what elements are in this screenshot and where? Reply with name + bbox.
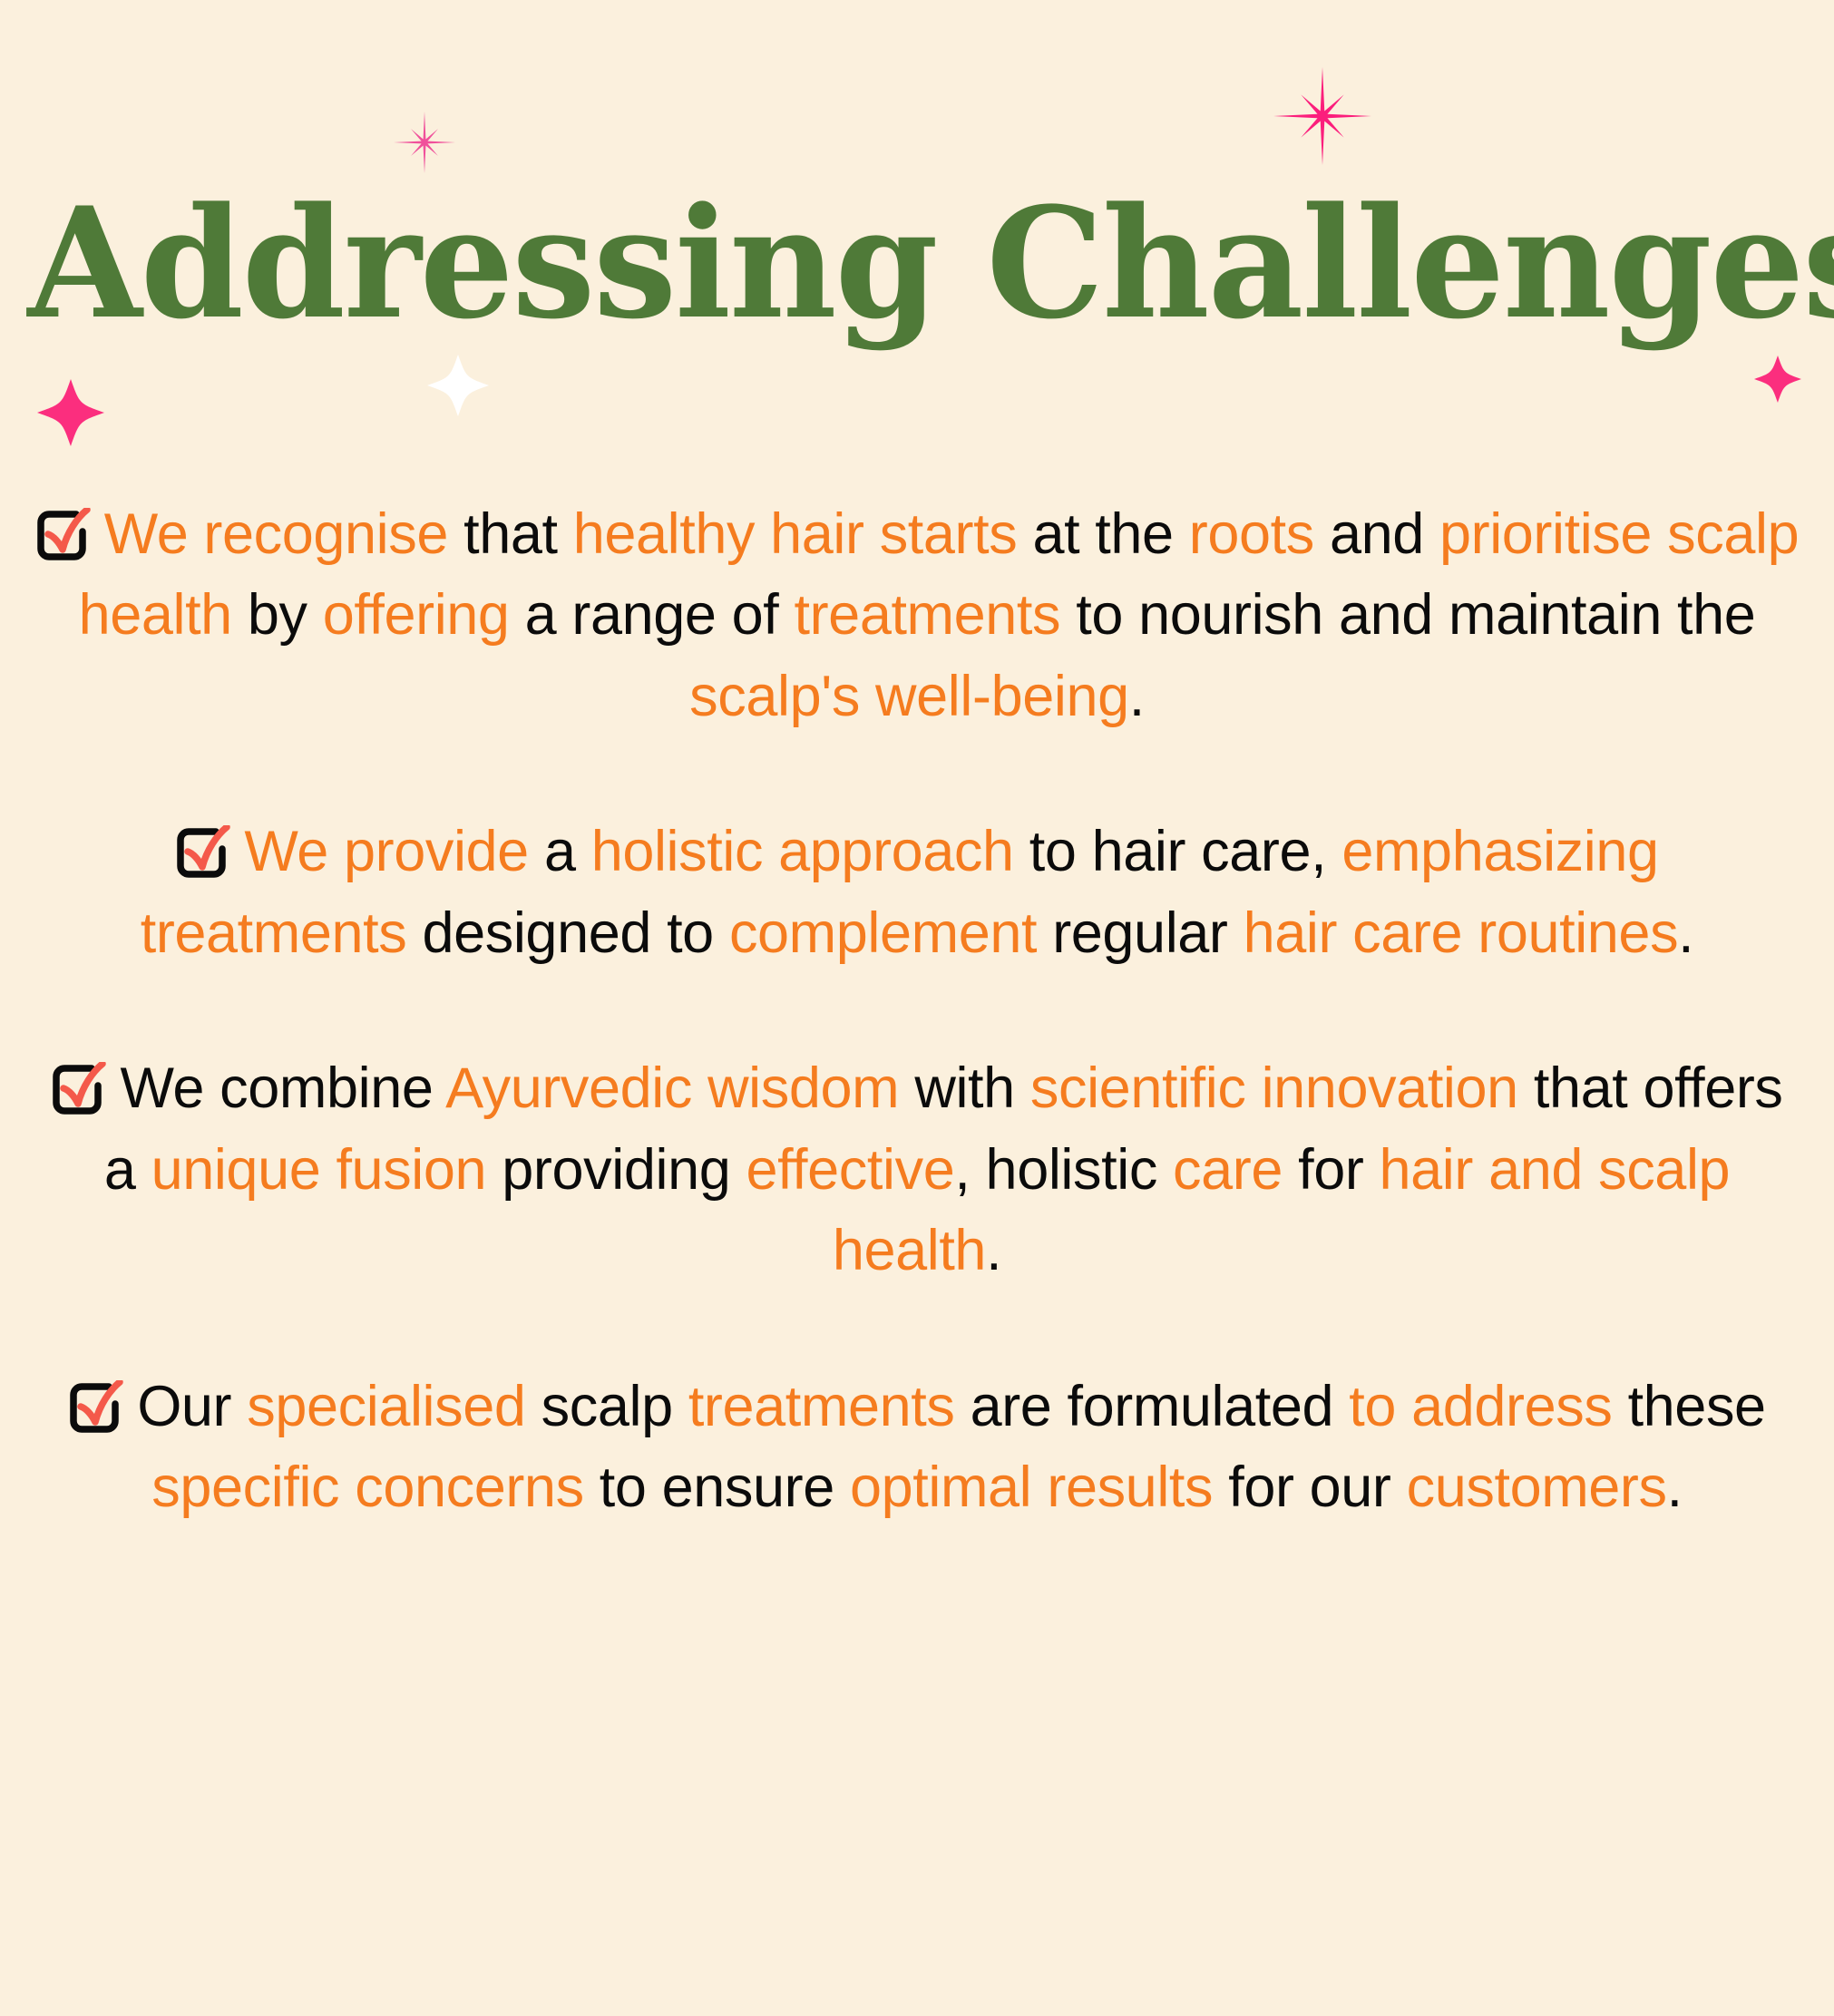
- bullet-text-plain: Our: [137, 1375, 247, 1438]
- bullet-text-plain: designed to: [422, 901, 728, 965]
- bullet-text-highlight: Ayurvedic wisdom: [445, 1057, 914, 1120]
- bullet-text-plain: to nourish and maintain the: [1076, 583, 1755, 647]
- bullet-text-highlight: effective: [746, 1138, 954, 1202]
- bullet-text-highlight: specialised: [247, 1375, 541, 1438]
- bullet-list: We recognise that healthy hair starts at…: [0, 494, 1834, 1529]
- page-title-container: Addressing Challenges: [0, 187, 1834, 339]
- bullet-item: Our specialised scalp treatments are for…: [34, 1367, 1800, 1529]
- bullet-text-plain: a: [544, 820, 591, 883]
- bullet-text-plain: a range of: [525, 583, 795, 647]
- checkbox-checked-icon: [51, 1062, 107, 1116]
- bullet-text-highlight: care: [1173, 1138, 1298, 1202]
- bullet-text-plain: .: [1667, 1456, 1683, 1519]
- bullet-item: We provide a holistic approach to hair c…: [34, 812, 1800, 974]
- checkbox-checked-icon: [68, 1380, 124, 1435]
- bullet-text-plain: and: [1330, 502, 1439, 566]
- bullet-text-plain: for: [1298, 1138, 1379, 1202]
- bullet-text-plain: .: [986, 1219, 1001, 1282]
- bullet-text-plain: by: [248, 583, 323, 647]
- sparkle-diamond-pink-left: [37, 379, 104, 446]
- bullet-text-plain: .: [1678, 901, 1693, 965]
- bullet-text-highlight: offering: [323, 583, 525, 647]
- sparkle-diamond-white-center: [427, 355, 489, 416]
- bullet-text-plain: We combine: [120, 1057, 445, 1120]
- bullet-text-plain: scalp: [541, 1375, 688, 1438]
- bullet-text-highlight: complement: [729, 901, 1052, 965]
- bullet-text-highlight: treatments: [688, 1375, 971, 1438]
- bullet-text-plain: for our: [1228, 1456, 1406, 1519]
- bullet-text-highlight: optimal results: [850, 1456, 1228, 1519]
- bullet-text-plain: regular: [1052, 901, 1243, 965]
- bullet-text-plain: these: [1628, 1375, 1766, 1438]
- bullet-text-highlight: scientific innovation: [1030, 1057, 1534, 1120]
- bullet-text-highlight: healthy hair starts: [573, 502, 1033, 566]
- bullet-text-plain: with: [914, 1057, 1030, 1120]
- bullet-item: We recognise that healthy hair starts at…: [34, 494, 1800, 737]
- checkbox-checked-icon: [175, 825, 231, 880]
- bullet-text-highlight: unique fusion: [151, 1138, 502, 1202]
- bullet-item: We combine Ayurvedic wisdom with scienti…: [34, 1048, 1800, 1291]
- sparkle-star-pink-small: [394, 112, 455, 173]
- bullet-text-highlight: scalp's well-being: [689, 665, 1129, 728]
- bullet-text-highlight: specific concerns: [151, 1456, 600, 1519]
- bullet-text-plain: are formulated: [971, 1375, 1350, 1438]
- page-title: Addressing Challenges: [27, 187, 1806, 339]
- bullet-text-plain: .: [1129, 665, 1145, 728]
- sparkle-star-pink-large: [1273, 67, 1371, 165]
- bullet-text-highlight: We recognise: [104, 502, 463, 566]
- bullet-text-highlight: hair care routines: [1244, 901, 1679, 965]
- bullet-text-plain: to ensure: [600, 1456, 850, 1519]
- bullet-text-highlight: roots: [1189, 502, 1330, 566]
- bullet-text-highlight: treatments: [795, 583, 1077, 647]
- bullet-text-plain: that: [463, 502, 573, 566]
- bullet-text-plain: to hair care,: [1029, 820, 1342, 883]
- bullet-text-plain: , holistic: [954, 1138, 1173, 1202]
- bullet-text-highlight: holistic approach: [591, 820, 1029, 883]
- bullet-text-highlight: We provide: [244, 820, 544, 883]
- sparkle-diamond-pink-right: [1754, 355, 1801, 403]
- bullet-text-highlight: to address: [1349, 1375, 1627, 1438]
- bullet-text-plain: at the: [1032, 502, 1188, 566]
- bullet-text-plain: providing: [502, 1138, 746, 1202]
- checkbox-checked-icon: [35, 508, 92, 562]
- bullet-text-highlight: customers: [1407, 1456, 1667, 1519]
